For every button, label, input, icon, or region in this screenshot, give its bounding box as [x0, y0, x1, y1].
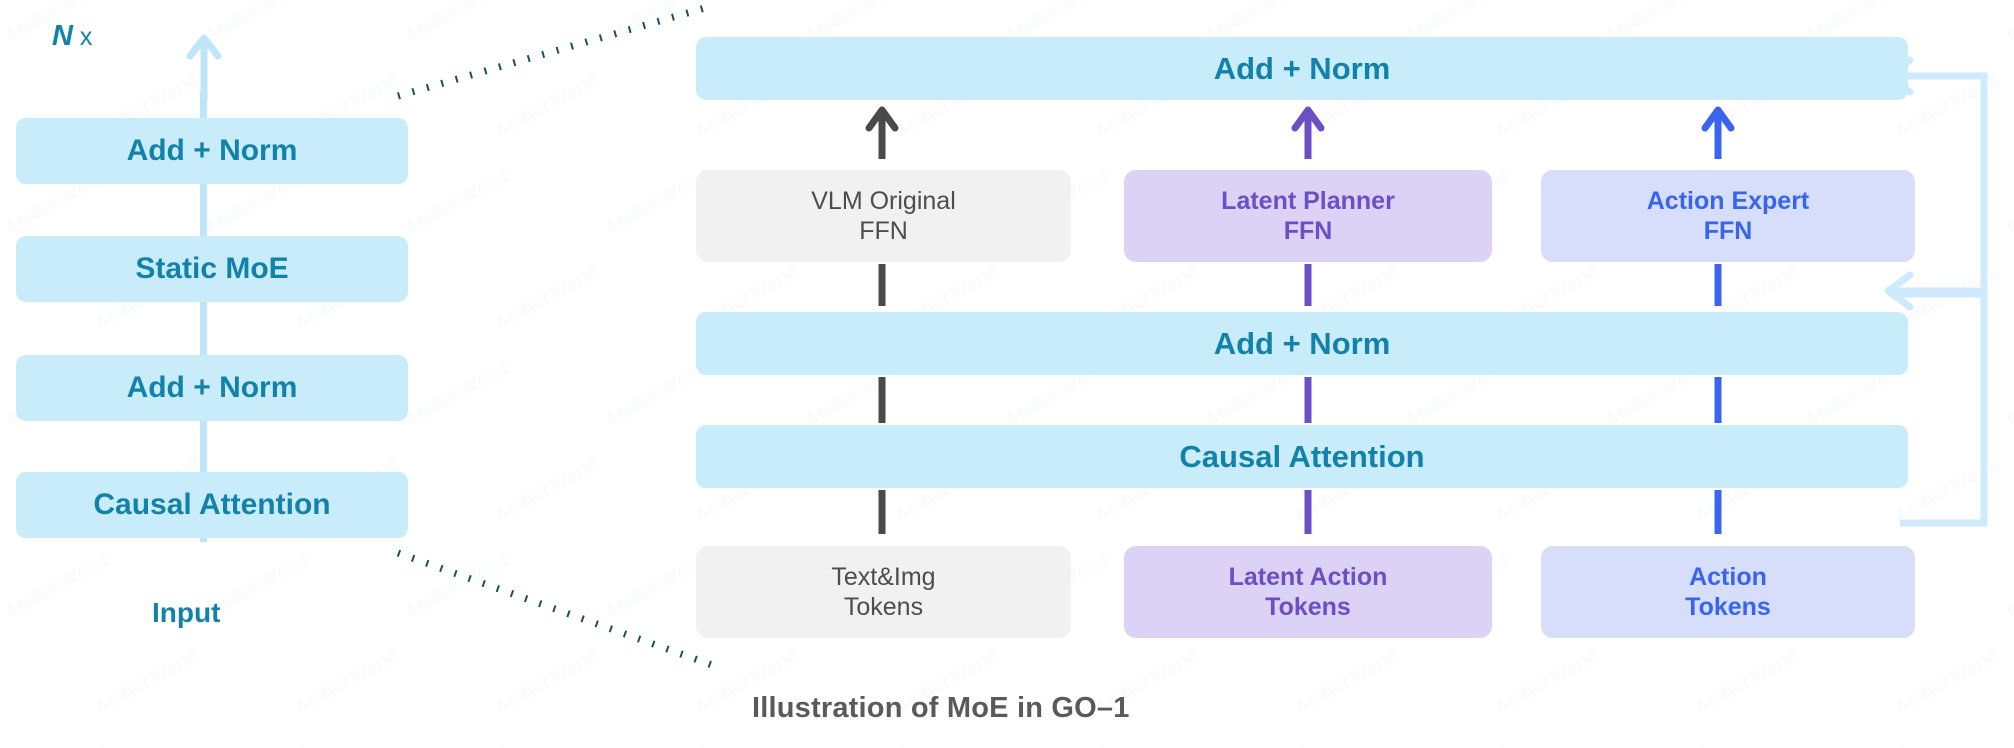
watermark-text: AgiBot World [0, 646, 2, 717]
watermark-text: AgiBot World [802, 742, 912, 748]
watermark-text: AgiBot World [402, 742, 512, 748]
right-bar-label: Add + Norm [1214, 50, 1391, 88]
ffn-expert-line2: FFN [859, 217, 908, 245]
watermark-text: AgiBot World [202, 742, 312, 748]
watermark-text: AgiBot World [2, 550, 112, 621]
dash-midnorm-to-attention-action [1708, 375, 1728, 425]
left-block-add-norm-bottom[interactable]: Add + Norm [16, 355, 408, 421]
left-block-add-norm-top[interactable]: Add + Norm [16, 118, 408, 184]
watermark-text: AgiBot World [492, 262, 602, 333]
watermark-text: AgiBot World [492, 454, 602, 525]
ffn-expert-line1: Action Expert [1647, 187, 1810, 215]
watermark-text: AgiBot World [402, 166, 512, 237]
figure-caption: Illustration of MoE in GO–1 [752, 692, 1130, 725]
token-input-latent-action[interactable]: Latent Action Tokens [1124, 546, 1492, 638]
token-input-line2: Tokens [1265, 593, 1351, 621]
ffn-expert-text: Action Expert FFN [1647, 186, 1810, 247]
watermark-text: AgiBot World [2002, 550, 2014, 621]
ffn-expert-text: Latent Planner FFN [1221, 186, 1395, 247]
dotted-connector-bottom [390, 545, 720, 675]
watermark-text: AgiBot World [1002, 742, 1112, 748]
left-input-text: Input [152, 597, 220, 628]
dash-tokens-to-attention-latent [1298, 488, 1318, 544]
left-block-label: Causal Attention [93, 487, 330, 524]
token-input-text-img[interactable]: Text&Img Tokens [696, 546, 1071, 638]
token-input-text: Action Tokens [1685, 562, 1771, 623]
token-input-line1: Text&Img [831, 563, 935, 591]
watermark-text: AgiBot World [0, 454, 2, 525]
token-input-line2: Tokens [844, 593, 923, 621]
right-bar-causal-attention[interactable]: Causal Attention [696, 425, 1908, 488]
watermark-text: AgiBot World [602, 358, 712, 429]
watermark-text: AgiBot World [1692, 646, 1802, 717]
watermark-text: AgiBot World [292, 646, 402, 717]
left-input-label: Input [152, 597, 220, 629]
ffn-expert-text: VLM Original FFN [811, 186, 956, 247]
ffn-expert-line2: FFN [1284, 217, 1333, 245]
ffn-expert-action-expert[interactable]: Action Expert FFN [1541, 170, 1915, 262]
watermark-text: AgiBot World [1602, 742, 1712, 748]
left-block-static-moe[interactable]: Static MoE [16, 236, 408, 302]
token-input-text: Text&Img Tokens [831, 562, 935, 623]
repeat-count-x: x [73, 23, 92, 51]
ffn-expert-vlm-original[interactable]: VLM Original FFN [696, 170, 1071, 262]
left-block-label: Add + Norm [127, 133, 298, 170]
right-bar-add-norm-mid[interactable]: Add + Norm [696, 312, 1908, 375]
watermark-text: AgiBot World [1892, 646, 2002, 717]
right-bar-label: Causal Attention [1179, 438, 1424, 476]
dash-midnorm-to-attention-latent [1298, 375, 1318, 425]
token-input-line2: Tokens [1685, 593, 1771, 621]
watermark-text: AgiBot World [2, 742, 112, 748]
left-block-label: Static MoE [135, 251, 288, 288]
token-input-line1: Latent Action [1229, 563, 1388, 591]
repeat-count-label: N x [52, 20, 92, 53]
ffn-output-arrow-vlm-icon [864, 104, 900, 159]
watermark-text: AgiBot World [0, 70, 2, 141]
ffn-expert-line1: Latent Planner [1221, 187, 1395, 215]
right-bar-label: Add + Norm [1214, 325, 1391, 363]
dash-tokens-to-attention-action [1708, 488, 1728, 544]
token-input-text: Latent Action Tokens [1229, 562, 1388, 623]
left-output-arrow-icon [186, 30, 222, 100]
watermark-text: AgiBot World [92, 646, 202, 717]
watermark-text: AgiBot World [0, 262, 2, 333]
ffn-output-arrow-latent-planner-icon [1290, 104, 1326, 159]
ffn-expert-latent-planner[interactable]: Latent Planner FFN [1124, 170, 1492, 262]
watermark-text: AgiBot World [1492, 646, 1602, 717]
ffn-output-arrow-action-expert-icon [1700, 104, 1736, 159]
dash-tokens-to-attention-vlm [872, 488, 892, 544]
watermark-text: AgiBot World [602, 742, 712, 748]
watermark-text: AgiBot World [1202, 742, 1312, 748]
left-block-causal-attention[interactable]: Causal Attention [16, 472, 408, 538]
dotted-connector-top [390, 0, 720, 110]
watermark-text: AgiBot World [2002, 742, 2014, 748]
watermark-text: AgiBot World [1402, 742, 1512, 748]
watermark-text: AgiBot World [402, 358, 512, 429]
token-input-action[interactable]: Action Tokens [1541, 546, 1915, 638]
watermark-text: AgiBot World [1802, 742, 1912, 748]
right-bar-add-norm-top[interactable]: Add + Norm [696, 37, 1908, 100]
ffn-expert-line2: FFN [1704, 217, 1753, 245]
token-input-line1: Action [1689, 563, 1767, 591]
dash-midnorm-to-attention-vlm [872, 375, 892, 425]
figure-canvas: AgiBot WorldAgiBot WorldAgiBot WorldAgiB… [0, 0, 2014, 748]
residual-connection-lower [1880, 245, 2014, 545]
left-block-label: Add + Norm [127, 370, 298, 407]
repeat-count-n: N [52, 20, 73, 52]
watermark-text: AgiBot World [1292, 646, 1402, 717]
ffn-expert-line1: VLM Original [811, 187, 956, 215]
figure-caption-text: Illustration of MoE in GO–1 [752, 692, 1130, 724]
